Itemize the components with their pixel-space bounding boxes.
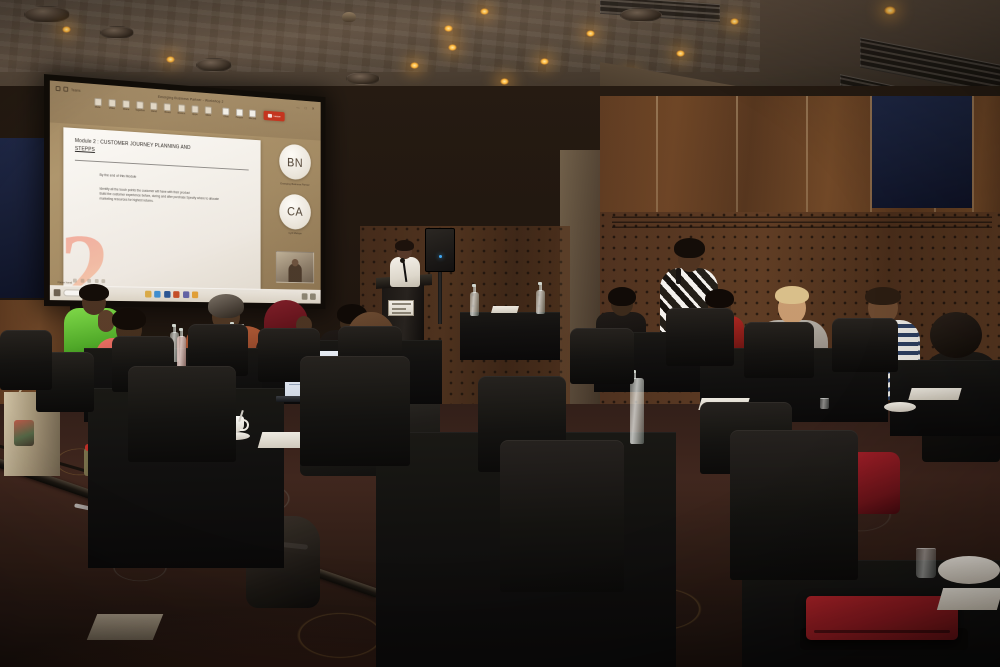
leave-label: Leave [274, 114, 281, 118]
participant-tile-bn[interactable]: BN Emerging Business Partner [276, 143, 314, 186]
downlight-icon [540, 58, 549, 65]
sign-line [392, 303, 411, 305]
downlight-icon [444, 25, 453, 32]
powerpoint-slide: Module 2 : CUSTOMER JOURNEY PLANNING AND… [63, 127, 260, 289]
chair [128, 366, 236, 462]
toolbar-button-chat[interactable]: Chat [220, 107, 231, 119]
conference-room-scene: Teams Emerging Business Partner - Worksh… [0, 0, 1000, 667]
toolbar-button-hand[interactable]: Hand [148, 102, 160, 114]
chair-foreground [500, 440, 624, 592]
chair [570, 328, 634, 384]
toolbar-button-people[interactable]: People [234, 108, 245, 120]
hangup-icon [268, 114, 272, 118]
chair [666, 308, 734, 366]
plate [884, 402, 916, 412]
downlight-icon [586, 30, 595, 37]
attendee-hair [208, 294, 244, 318]
slide-title: Module 2 : CUSTOMER JOURNEY PLANNING AND… [75, 138, 249, 163]
water-bottle [536, 290, 545, 314]
chair [832, 318, 898, 372]
start-button[interactable] [54, 289, 61, 296]
water-bottle-foreground [630, 378, 644, 444]
microphone-icon [400, 258, 405, 263]
downlight-icon [410, 62, 419, 69]
ceiling-speaker-icon [100, 26, 134, 39]
projection-screen: Teams Emerging Business Partner - Worksh… [44, 74, 326, 309]
edge-icon[interactable] [154, 291, 160, 298]
file-explorer-icon[interactable] [145, 291, 151, 298]
volume-icon[interactable] [310, 293, 316, 300]
toolbar-button-record[interactable]: Record [247, 109, 258, 121]
facilitator-hair [674, 238, 705, 258]
participant-tile-ca[interactable]: CA Cyril Malope [276, 193, 314, 236]
sign-line [392, 308, 406, 310]
toolbar-button-video[interactable]: Video [106, 99, 118, 111]
toolbar-button-together[interactable]: Together [134, 101, 146, 113]
slide-bullets: Identify all the touch points the custom… [100, 187, 249, 209]
sleeve-zipper [814, 630, 950, 633]
drinking-glass [820, 398, 829, 409]
attendee-hair [112, 308, 146, 330]
chair [300, 356, 410, 466]
avatar: BN [279, 143, 311, 180]
word-icon[interactable] [164, 291, 170, 298]
toolbar-button-more[interactable]: More [203, 106, 214, 118]
attendee-hair [705, 289, 734, 308]
foreground-plate [938, 556, 1000, 584]
downlight-icon [62, 26, 71, 33]
notepaper [908, 388, 961, 400]
attendee-hair [930, 312, 982, 358]
floor-paper [87, 614, 164, 640]
attendee-hair [775, 286, 809, 304]
chair [0, 330, 52, 390]
downlight-icon [448, 44, 457, 51]
water-bottle [470, 292, 479, 316]
pa-speaker [425, 228, 455, 272]
ceiling-speaker-icon [196, 58, 232, 72]
teams-meeting-toolbar: Mute Video Share Together [92, 98, 285, 123]
slide-subheading: By the end of this Module [100, 173, 137, 179]
self-view-head [292, 259, 299, 267]
downlight-icon [676, 50, 685, 57]
attendee-hair [79, 284, 109, 301]
avatar: CA [279, 193, 311, 229]
toolbar-button-share[interactable]: Share [120, 100, 132, 112]
side-table [460, 312, 560, 360]
teams-window-left-controls: Teams [56, 86, 81, 93]
attendee-hair [608, 287, 636, 306]
foreground-napkin [937, 588, 1000, 610]
downlight-icon [480, 8, 489, 15]
participant-name: Cyril Malope [276, 231, 314, 236]
toolbar-button-apps[interactable]: Apps [189, 105, 201, 117]
chair [744, 322, 814, 378]
downlight-icon [884, 6, 896, 15]
self-view-thumbnail[interactable] [276, 251, 314, 283]
wall-reveal-grooves [612, 214, 992, 228]
toolbar-right-group: Chat People Record Leave [220, 107, 284, 123]
navy-acoustic-panel-right [872, 96, 972, 208]
back-icon[interactable] [56, 86, 61, 91]
powerpoint-icon[interactable] [173, 291, 179, 298]
bag-graphic [14, 420, 34, 446]
ceiling-speaker-icon [346, 72, 380, 85]
forward-icon[interactable] [63, 87, 68, 92]
leave-meeting-button[interactable]: Leave [263, 111, 284, 122]
presenter-hair [395, 240, 414, 251]
attendee-hair [865, 287, 901, 305]
foreground-glass [916, 548, 936, 578]
handheld-microphone-icon [676, 268, 681, 284]
ceiling-speaker-icon [24, 6, 70, 23]
toolbar-button-react[interactable]: React [162, 103, 174, 115]
downlight-icon [730, 18, 739, 25]
red-laptop-sleeve [806, 596, 958, 640]
chair-foreground [730, 430, 858, 580]
water-bottle [177, 336, 186, 370]
toolbar-button-mute[interactable]: Mute [92, 98, 104, 110]
downlight-icon [500, 78, 509, 85]
toolbar-button-rooms[interactable]: Rooms [176, 104, 188, 116]
power-led-icon [439, 255, 442, 258]
window-controls[interactable]: — □ ✕ [296, 105, 316, 111]
smoke-detector-icon [342, 12, 356, 22]
network-icon[interactable] [302, 293, 308, 300]
taskbar-system-tray[interactable] [302, 293, 318, 300]
notepaper [491, 306, 519, 313]
participant-rail: BN Emerging Business Partner CA Cyril Ma… [276, 143, 314, 244]
downlight-icon [166, 56, 175, 63]
projected-image: Teams Emerging Business Partner - Worksh… [50, 80, 321, 303]
ceiling-speaker-icon [620, 8, 662, 22]
teams-app-badge: Teams [71, 88, 81, 93]
participant-name: Emerging Business Partner [276, 181, 314, 187]
